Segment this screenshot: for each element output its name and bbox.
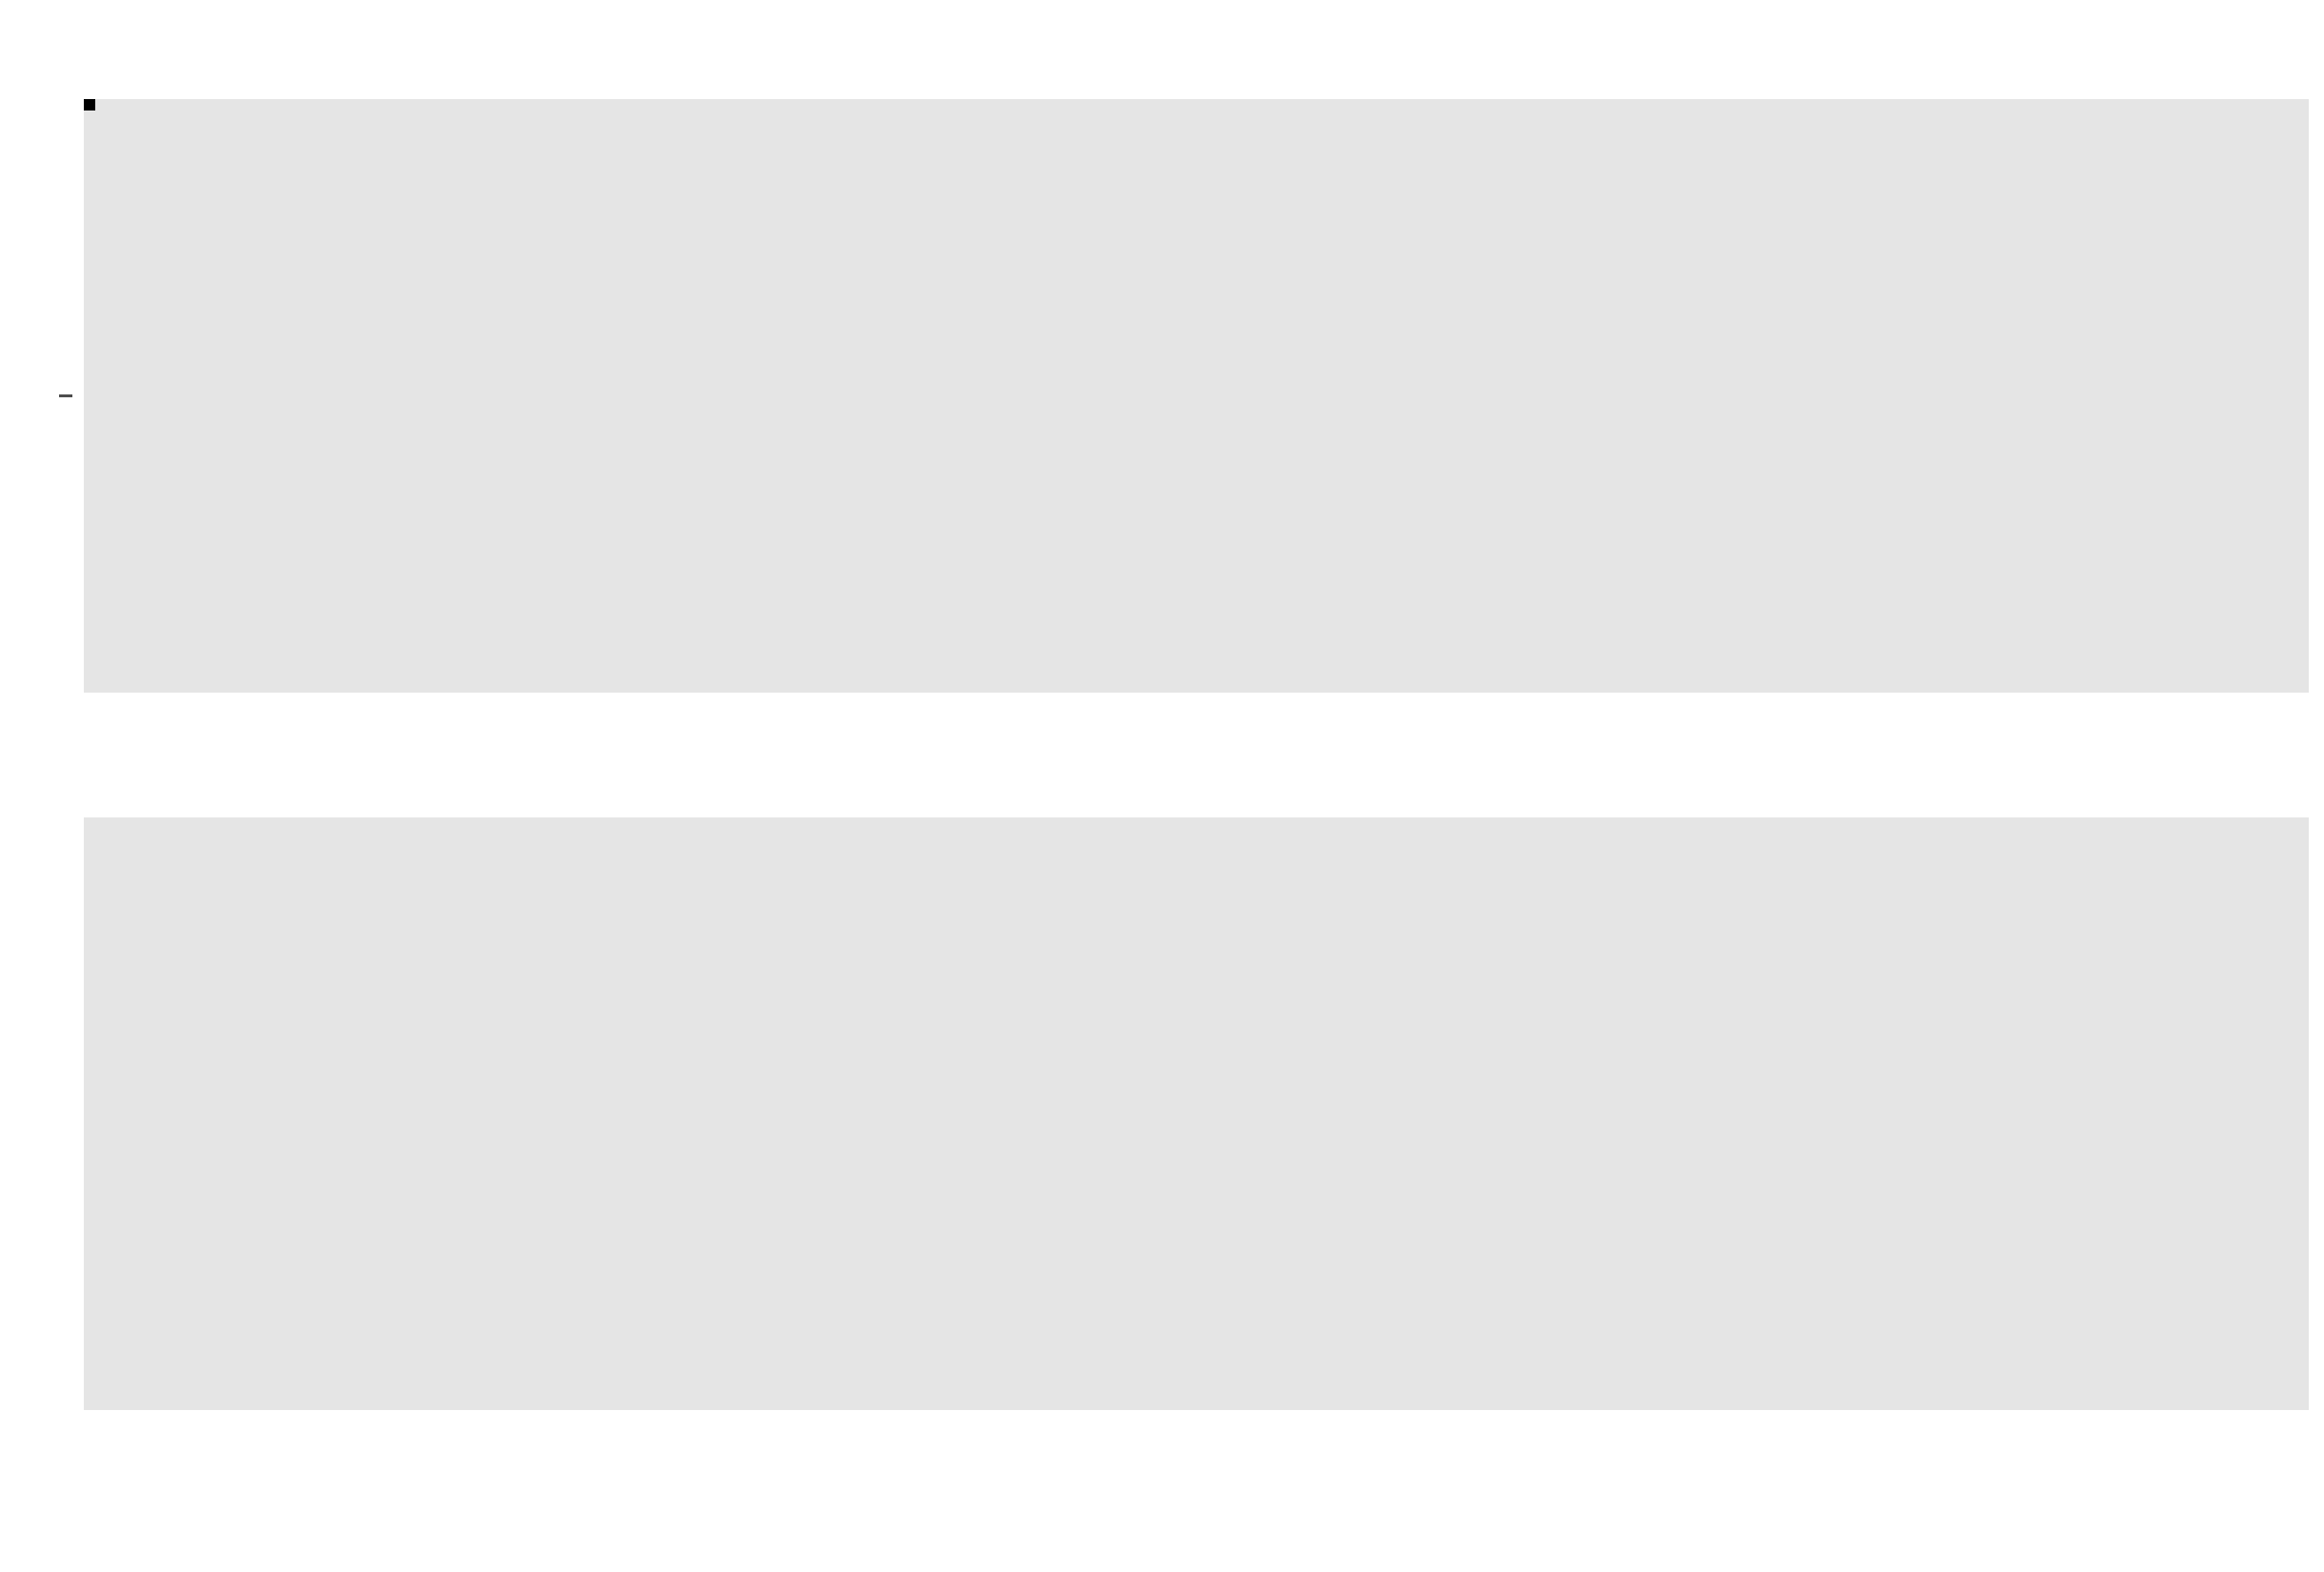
chart-figure	[0, 0, 2324, 1572]
y-axis-tick-mark	[59, 394, 72, 397]
boxplot-box	[84, 99, 95, 111]
x-axis-top	[0, 693, 2324, 778]
boxplot-layer	[84, 99, 2309, 693]
x-axis-bottom	[0, 1410, 2324, 1496]
boxplot-panel	[84, 99, 2309, 693]
violin-layer	[84, 817, 2309, 1410]
violin-density-shape	[84, 817, 2309, 1410]
violin-panel	[84, 817, 2309, 1410]
